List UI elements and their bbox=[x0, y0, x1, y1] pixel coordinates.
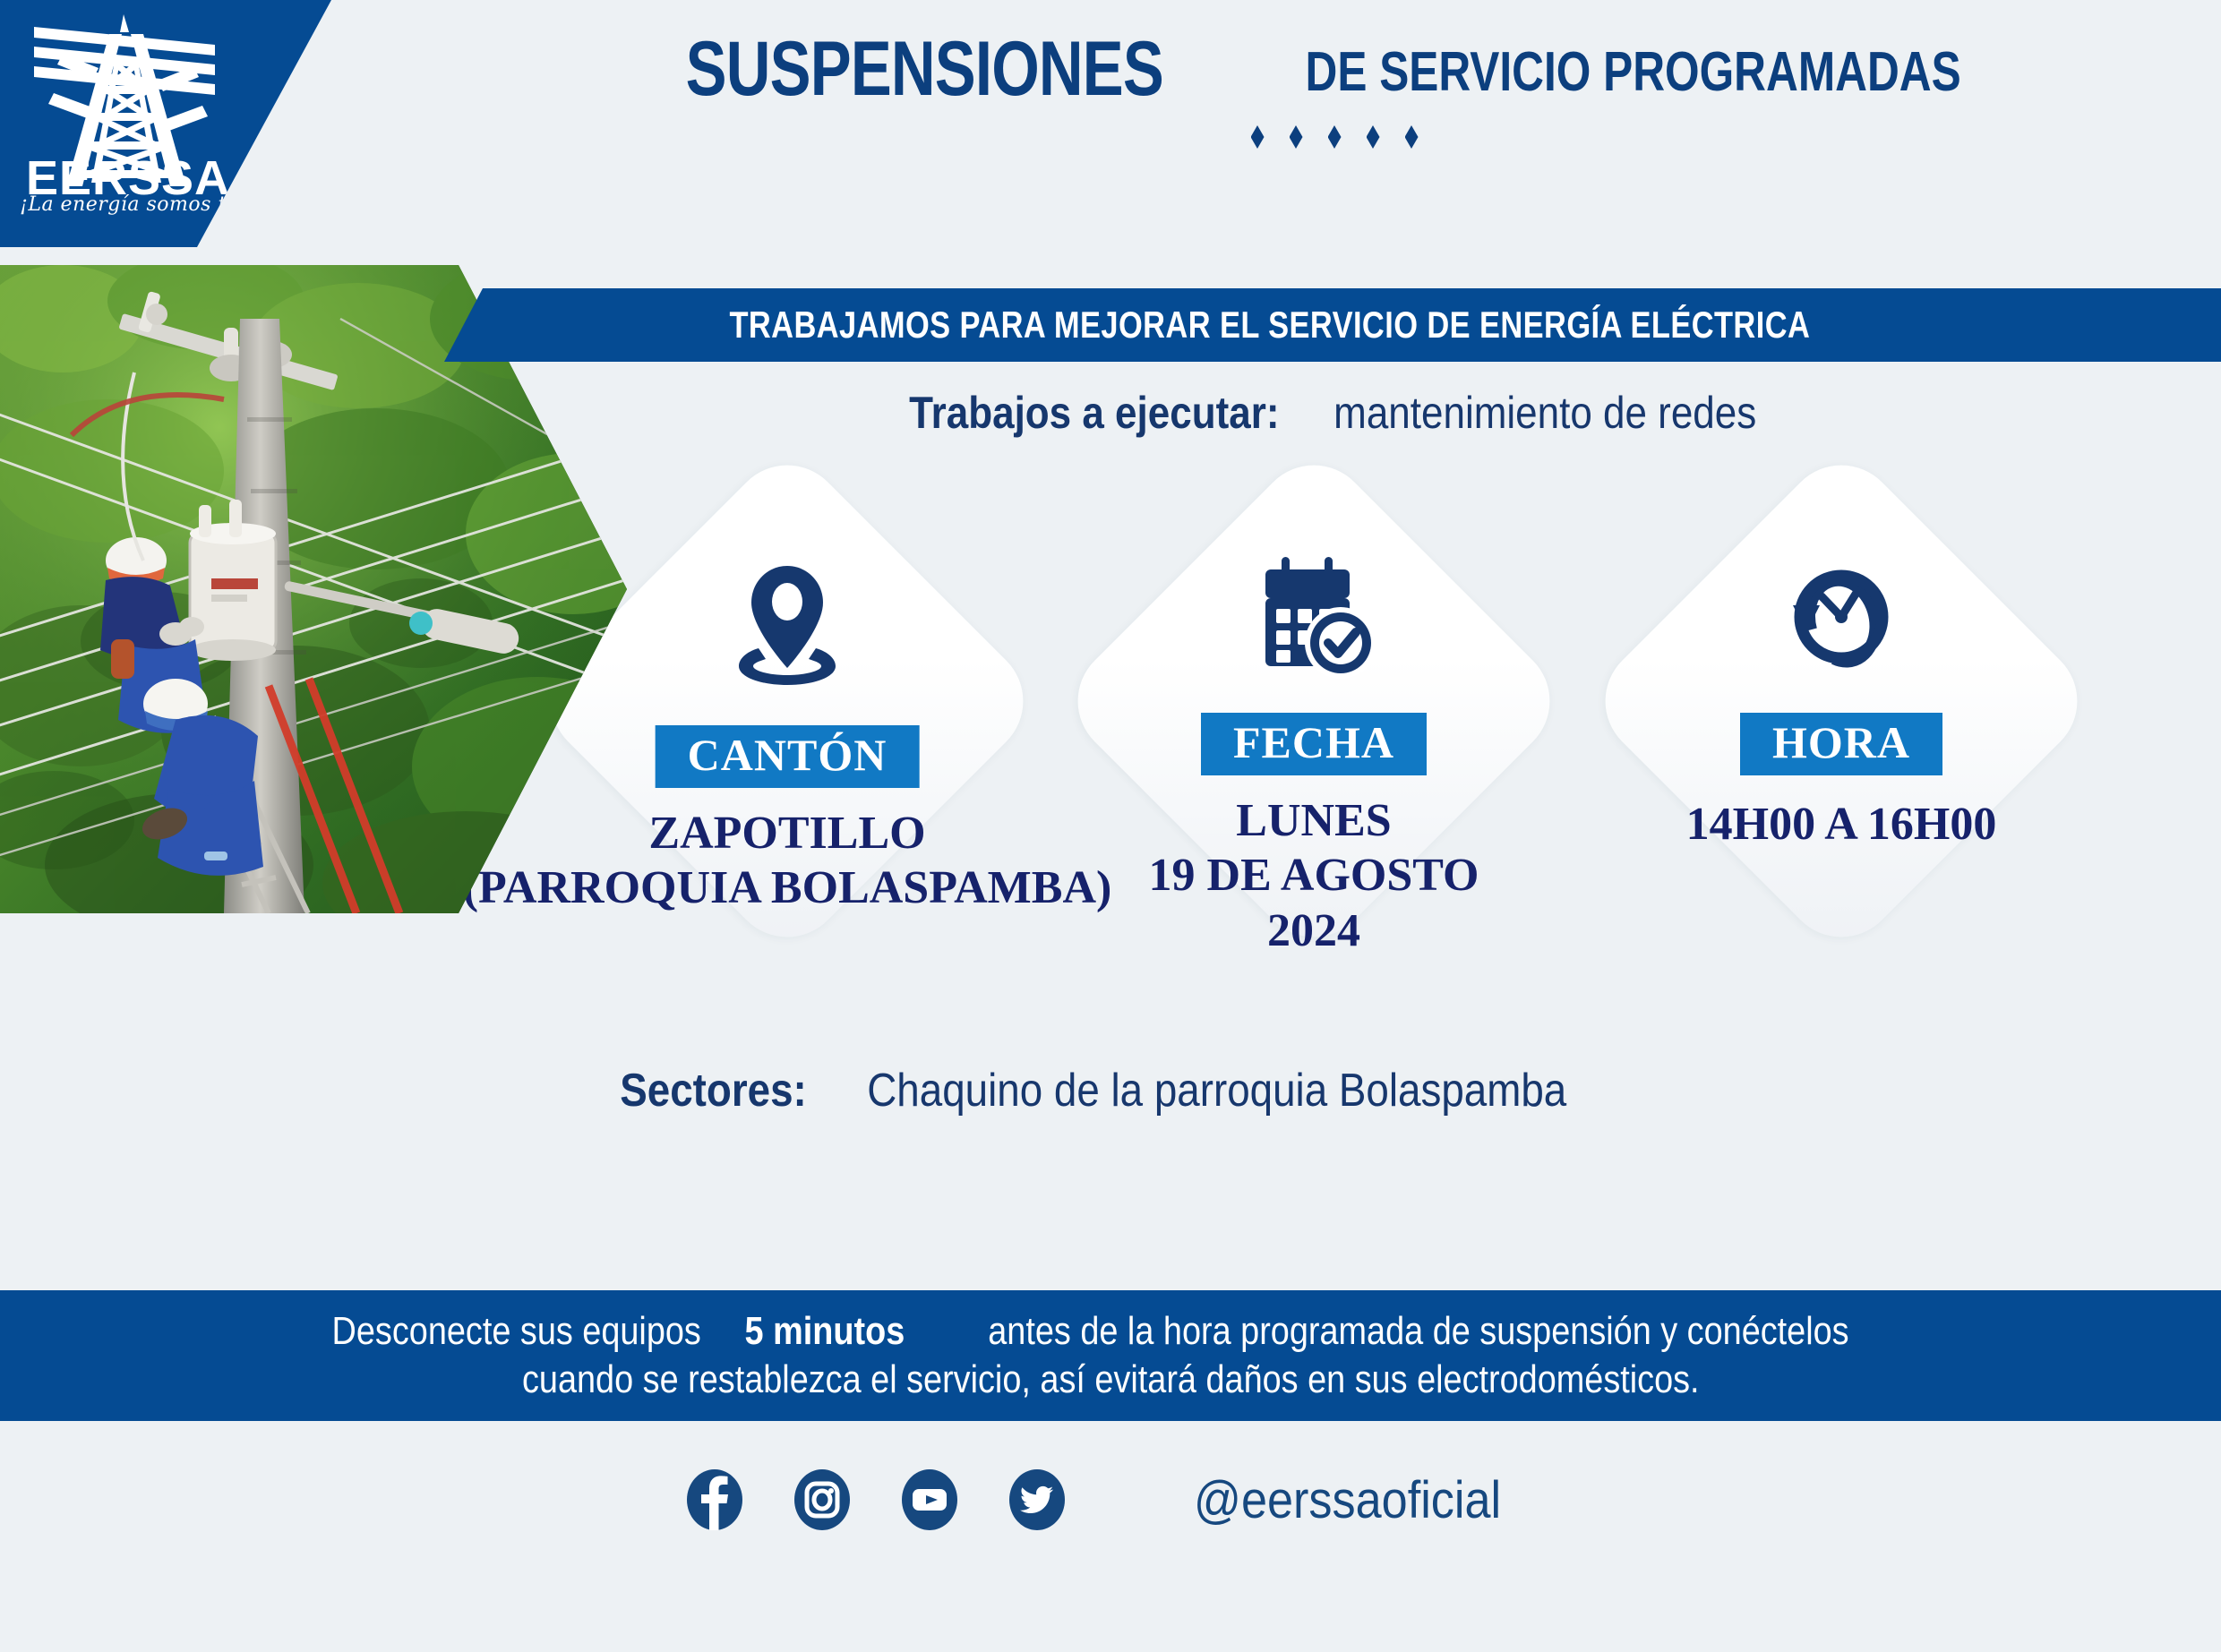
banner-strip: TRABAJAMOS PARA MEJORAR EL SERVICIO DE E… bbox=[444, 288, 2221, 362]
map-pin-icon bbox=[716, 555, 859, 689]
facebook-link[interactable] bbox=[685, 1468, 744, 1532]
card-value-hora: 14H00 A 16H00 bbox=[1686, 797, 1997, 852]
separator-dot bbox=[1251, 125, 1265, 149]
banner-text: TRABAJAMOS PARA MEJORAR EL SERVICIO DE E… bbox=[730, 304, 1811, 347]
card-badge-hora: HORA bbox=[1740, 713, 1942, 775]
card-value-line2: 19 DE AGOSTO bbox=[1149, 848, 1479, 903]
works-line: Trabajos a ejecutar: mantenimiento de re… bbox=[502, 387, 2167, 439]
info-card-fecha: FECHA LUNES 19 DE AGOSTO 2024 bbox=[1054, 518, 1574, 1037]
card-value-line2: (PARROQUIA BOLASPAMBA) bbox=[463, 860, 1112, 915]
page-header: SUSPENSIONESDE SERVICIO PROGRAMADAS bbox=[502, 30, 2167, 149]
youtube-icon bbox=[900, 1468, 959, 1532]
twitter-icon bbox=[1008, 1468, 1067, 1532]
info-card-hora: HORA 14H00 A 16H00 bbox=[1582, 518, 2101, 1037]
card-value-line1: ZAPOTILLO bbox=[463, 806, 1112, 860]
separator-dot bbox=[1405, 125, 1419, 149]
sectors-line: Sectores: Chaquino de la parroquia Bolas… bbox=[0, 1064, 2221, 1117]
title-strong: SUSPENSIONES bbox=[686, 30, 1163, 107]
svg-text:EERSSA: EERSSA bbox=[26, 151, 230, 200]
footer: @eerssaoficial bbox=[0, 1433, 2221, 1567]
card-value-line3: 2024 bbox=[1149, 903, 1479, 958]
separator-dot bbox=[1328, 125, 1342, 149]
notice-line2: cuando se restablezca el servicio, así e… bbox=[522, 1356, 1700, 1404]
instagram-link[interactable] bbox=[793, 1468, 852, 1532]
card-badge-canton: CANTÓN bbox=[656, 725, 920, 788]
brand-slogan: ¡La energía somos todos! bbox=[20, 193, 240, 216]
transmission-tower-icon: EERSSA bbox=[16, 7, 240, 200]
notice-line1-b: antes de la hora programada de suspensió… bbox=[988, 1307, 1848, 1356]
notice-strip: Desconecte sus equipos 5 minutos antes d… bbox=[0, 1290, 2221, 1421]
separator-dot bbox=[1367, 125, 1380, 149]
clock-arrow-icon bbox=[1770, 550, 1913, 684]
banner-text-wrap: TRABAJAMOS PARA MEJORAR EL SERVICIO DE E… bbox=[444, 304, 2221, 347]
works-value: mantenimiento de redes bbox=[1333, 387, 1756, 439]
poster-canvas: EERSSA ¡La energía somos todos! SUSPENSI… bbox=[0, 0, 2221, 1652]
notice-line1-bold: 5 minutos bbox=[744, 1307, 905, 1356]
sectors-label: Sectores: bbox=[620, 1064, 807, 1117]
works-label: Trabajos a ejecutar: bbox=[909, 387, 1279, 439]
card-value-fecha: LUNES 19 DE AGOSTO 2024 bbox=[1149, 793, 1479, 958]
instagram-icon bbox=[793, 1468, 852, 1532]
card-diamond-shape bbox=[1582, 441, 2101, 961]
brand-logo: EERSSA ¡La energía somos todos! bbox=[16, 7, 240, 242]
calendar-check-icon bbox=[1242, 550, 1385, 684]
card-badge-fecha: FECHA bbox=[1201, 713, 1427, 775]
title-light: DE SERVICIO PROGRAMADAS bbox=[1305, 45, 1960, 100]
twitter-link[interactable] bbox=[1008, 1468, 1067, 1532]
social-handle: @eerssaoficial bbox=[1194, 1470, 1501, 1530]
title-separator-dots bbox=[502, 125, 2167, 149]
facebook-icon bbox=[685, 1468, 744, 1532]
notice-text: Desconecte sus equipos 5 minutos antes d… bbox=[302, 1307, 1918, 1403]
card-value-line1: 14H00 A 16H00 bbox=[1686, 797, 1997, 852]
youtube-link[interactable] bbox=[900, 1468, 959, 1532]
notice-line-2: cuando se restablezca el servicio, así e… bbox=[302, 1356, 1918, 1404]
sectors-value: Chaquino de la parroquia Bolaspamba bbox=[867, 1064, 1566, 1117]
card-value-canton: ZAPOTILLO (PARROQUIA BOLASPAMBA) bbox=[463, 806, 1112, 916]
notice-line-1: Desconecte sus equipos 5 minutos antes d… bbox=[302, 1307, 1918, 1356]
social-links bbox=[685, 1468, 1067, 1532]
card-value-line1: LUNES bbox=[1149, 793, 1479, 848]
page-title: SUSPENSIONESDE SERVICIO PROGRAMADAS bbox=[502, 30, 2167, 107]
notice-line1-a: Desconecte sus equipos bbox=[332, 1307, 701, 1356]
separator-dot bbox=[1290, 125, 1303, 149]
